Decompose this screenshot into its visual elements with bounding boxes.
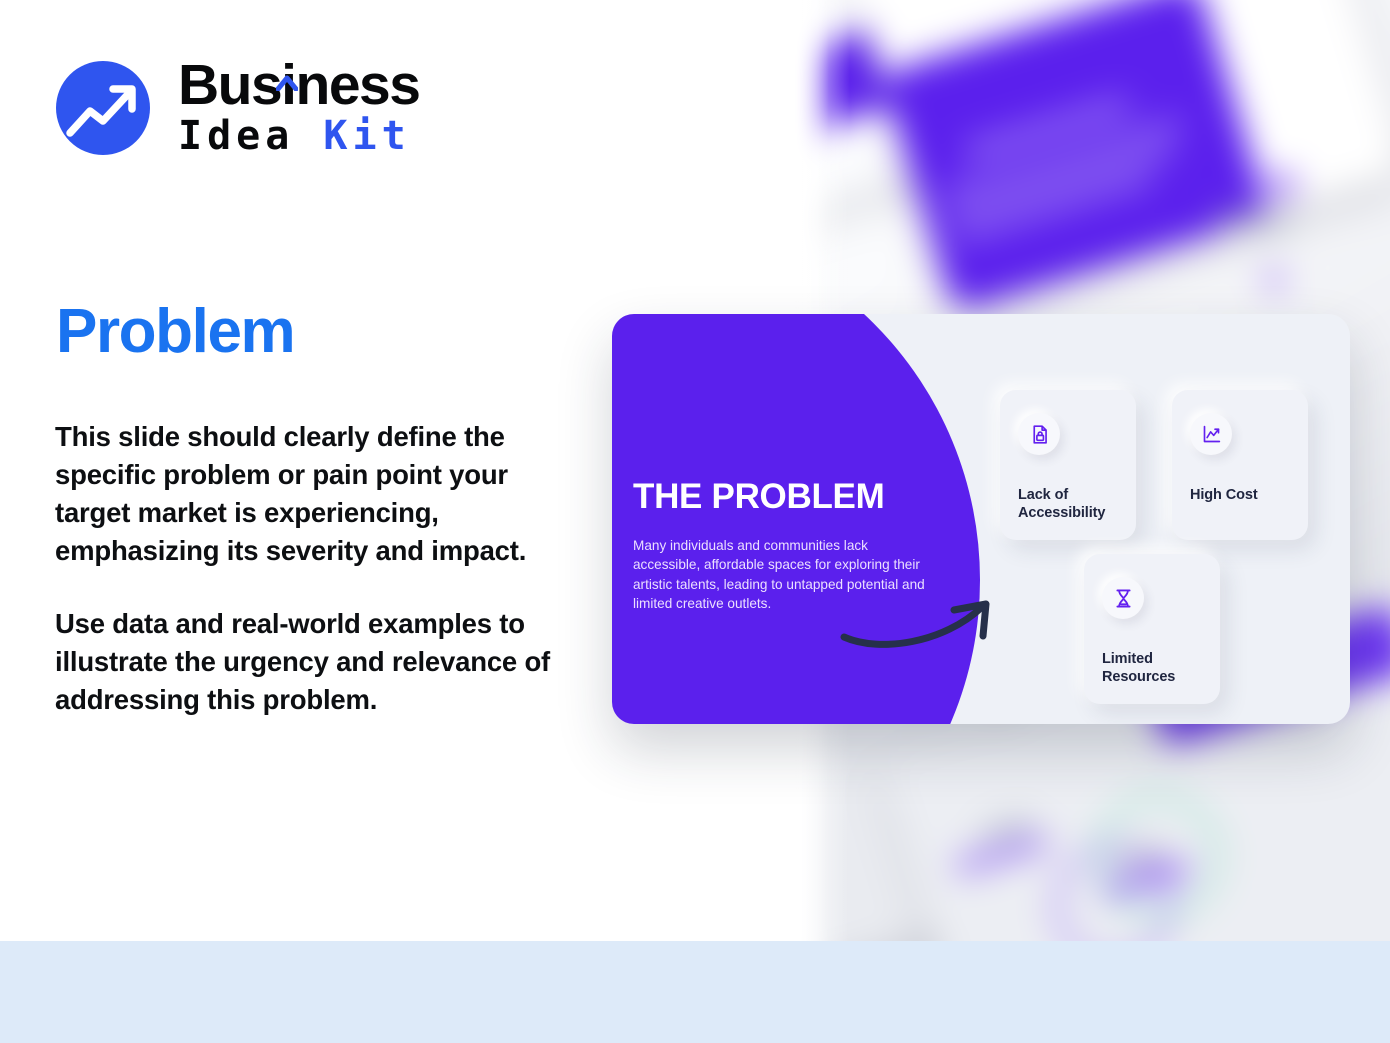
body-paragraph: Use data and real-world examples to illu… xyxy=(55,605,565,719)
brand-wordmark: Business Idea Kit xyxy=(178,58,419,159)
brand-kit-text: Kit xyxy=(323,113,410,159)
brand-name-line2: Idea Kit xyxy=(178,114,419,159)
slide-canvas: Business Idea Kit Problem This slide sho… xyxy=(0,0,1390,1043)
trending-up-arrow-icon xyxy=(56,61,150,155)
bottom-accent-band xyxy=(0,941,1390,1043)
blurred-dot xyxy=(1270,172,1296,198)
document-lock-icon xyxy=(1018,413,1060,455)
slide-preview-heading: THE PROBLEM xyxy=(633,479,963,514)
feature-card-label: Lack of Accessibility xyxy=(1018,487,1118,522)
body-paragraph: This slide should clearly define the spe… xyxy=(55,418,565,570)
feature-card-limited-resources[interactable]: Limited Resources xyxy=(1084,554,1220,704)
feature-card-lack-of-accessibility[interactable]: Lack of Accessibility xyxy=(1000,390,1136,540)
curved-arrow-icon xyxy=(840,597,1000,654)
slide-preview-card[interactable]: THE PROBLEM Many individuals and communi… xyxy=(612,314,1350,724)
page-title: Problem xyxy=(56,296,294,367)
feature-card-label: Limited Resources xyxy=(1102,651,1202,686)
brand-name-text: Business xyxy=(178,53,419,117)
chevron-up-icon xyxy=(276,45,298,61)
purple-circle-shape xyxy=(612,314,980,724)
page-body-copy: This slide should clearly define the spe… xyxy=(55,418,565,719)
feature-card-high-cost[interactable]: High Cost xyxy=(1172,390,1308,540)
blurred-dot xyxy=(1264,270,1284,290)
line-chart-icon xyxy=(1190,413,1232,455)
brand-idea-text: Idea xyxy=(178,113,294,159)
brand-logo[interactable]: Business Idea Kit xyxy=(56,58,419,159)
brand-name-line1: Business xyxy=(178,58,419,112)
hourglass-icon xyxy=(1102,577,1144,619)
feature-card-label: High Cost xyxy=(1190,487,1290,505)
